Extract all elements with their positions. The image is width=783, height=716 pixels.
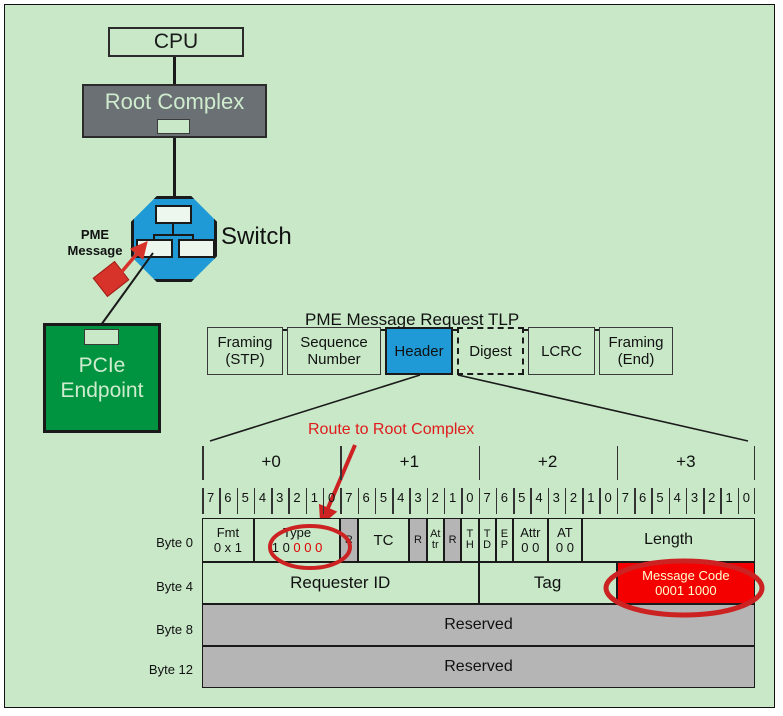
bit-tick <box>306 488 308 514</box>
byte-label-8: Byte 8 <box>109 622 193 637</box>
bit-number: 0 <box>740 490 752 505</box>
header-field-fmt: Fmt0 x 1 <box>202 518 254 562</box>
bit-number: 6 <box>360 490 372 505</box>
header-field-name: Attr <box>520 525 540 540</box>
type-field-highlight-ellipse <box>267 523 353 571</box>
header-field-value: H <box>466 540 474 551</box>
bit-number: 3 <box>412 490 424 505</box>
bit-tick <box>271 488 273 514</box>
bit-number: 3 <box>550 490 562 505</box>
tlp-field-line2: (End) <box>618 351 655 368</box>
bit-tick <box>237 488 239 514</box>
bit-number: 2 <box>568 490 580 505</box>
bit-number: 4 <box>671 490 683 505</box>
byte-edge-tick <box>202 446 204 480</box>
bit-number: 6 <box>222 490 234 505</box>
bit-tick <box>720 488 722 514</box>
header-field-name: R <box>414 535 422 546</box>
header-expand-lines <box>202 375 755 447</box>
header-field-value: 0 0 <box>521 540 539 555</box>
bit-tick <box>392 488 394 514</box>
header-field-name: TC <box>373 533 393 548</box>
bit-tick <box>479 488 481 514</box>
header-field-t: TH <box>461 518 478 562</box>
bit-number: 2 <box>429 490 441 505</box>
bit-tick <box>599 488 601 514</box>
message-code-highlight-ellipse <box>603 558 765 618</box>
tlp-field-line1: Sequence <box>300 334 368 351</box>
tlp-field-line1: LCRC <box>541 343 582 360</box>
tlp-field-lcrc: LCRC <box>528 327 595 375</box>
bit-tick <box>375 488 377 514</box>
bit-tick <box>703 488 705 514</box>
bit-tick <box>461 488 463 514</box>
bit-number: 5 <box>516 490 528 505</box>
byte-label-12: Byte 12 <box>109 662 193 677</box>
diagram-canvas: CPU Root Complex Switch PME Message PCIe… <box>4 4 775 708</box>
bit-tick <box>202 488 204 514</box>
bit-number: 5 <box>377 490 389 505</box>
tlp-field-line2: Number <box>307 351 360 368</box>
bit-tick <box>409 488 411 514</box>
bit-tick <box>530 488 532 514</box>
tlp-field-line1: Framing <box>608 334 663 351</box>
byte-label-0: Byte 0 <box>109 535 193 550</box>
bit-tick <box>513 488 515 514</box>
byte-offset-plus0: +0 <box>202 452 340 472</box>
pme-arrow-icon <box>113 241 157 283</box>
cpu-rc-wire <box>173 56 176 85</box>
endpoint-line1: PCIe <box>79 353 126 378</box>
header-field-r: R <box>444 518 461 562</box>
byte-divider-tick <box>479 446 481 480</box>
bit-number: 2 <box>706 490 718 505</box>
byte-offset-plus2: +2 <box>479 452 617 472</box>
bit-number: 3 <box>274 490 286 505</box>
bit-tick <box>427 488 429 514</box>
bit-tick <box>323 488 325 514</box>
bit-tick <box>651 488 653 514</box>
bit-number: 5 <box>239 490 251 505</box>
bit-number: 7 <box>619 490 631 505</box>
header-field-attr: Attr0 0 <box>513 518 548 562</box>
bit-number: 1 <box>585 490 597 505</box>
tlp-field-line1: Digest <box>469 343 512 360</box>
endpoint-line2: Endpoint <box>61 378 144 403</box>
bit-number: 7 <box>481 490 493 505</box>
header-field-value: 0 0 <box>556 540 574 555</box>
header-field-length: Length <box>582 518 755 562</box>
tlp-field-header: Header <box>385 327 453 375</box>
bit-tick <box>617 488 619 514</box>
header-field-name: R <box>449 535 457 546</box>
bit-tick <box>582 488 584 514</box>
byte-offset-plus1: +1 <box>340 452 478 472</box>
bit-tick <box>219 488 221 514</box>
bit-tick <box>754 488 756 514</box>
bit-number: 7 <box>205 490 217 505</box>
bit-number: 1 <box>308 490 320 505</box>
bit-tick <box>444 488 446 514</box>
bit-number: 6 <box>637 490 649 505</box>
bit-tick <box>634 488 636 514</box>
byte-divider-tick <box>340 446 342 480</box>
bit-tick <box>565 488 567 514</box>
bit-tick <box>254 488 256 514</box>
header-field-value: D <box>483 540 491 551</box>
reserved-cell-byte12: Reserved <box>202 646 755 688</box>
bit-number: 2 <box>291 490 303 505</box>
header-field-tc: TC <box>358 518 410 562</box>
tlp-field-line1: Framing <box>217 334 272 351</box>
bit-number: 3 <box>689 490 701 505</box>
cpu-box: CPU <box>108 27 244 57</box>
bit-tick <box>340 488 342 514</box>
byte-offset-plus3: +3 <box>617 452 755 472</box>
header-field-name: Fmt <box>217 525 239 540</box>
tlp-field-sequence: SequenceNumber <box>287 327 381 375</box>
header-field-t: TD <box>479 518 496 562</box>
header-field-value: 0 x 1 <box>214 540 242 555</box>
table-row-byte12: Reserved <box>202 646 755 688</box>
tlp-field-framing: Framing(STP) <box>207 327 283 375</box>
header-field-name: AT <box>557 525 573 540</box>
bit-number: 4 <box>533 490 545 505</box>
header-field-e: EP <box>496 518 513 562</box>
bit-tick <box>686 488 688 514</box>
header-field-tag: Tag <box>479 562 617 604</box>
header-field-at: Attr <box>427 518 444 562</box>
byte-edge-tick <box>754 446 756 480</box>
bit-tick <box>548 488 550 514</box>
rc-switch-wire <box>173 138 176 198</box>
header-field-name: Length <box>644 531 693 549</box>
root-complex-port <box>157 119 190 134</box>
tlp-field-digest: Digest <box>457 327 524 375</box>
endpoint-port <box>84 329 119 345</box>
bit-number: 0 <box>326 490 338 505</box>
header-field-r: R <box>409 518 426 562</box>
bit-tick <box>288 488 290 514</box>
bit-tick <box>358 488 360 514</box>
bit-ruler: +0+1+2+376543210765432107654321076543210 <box>202 446 755 518</box>
header-field-value: tr <box>432 540 439 551</box>
bit-number: 7 <box>343 490 355 505</box>
byte-label-4: Byte 4 <box>109 579 193 594</box>
bit-tick <box>669 488 671 514</box>
tlp-field-line1: Header <box>394 343 443 360</box>
bit-number: 0 <box>602 490 614 505</box>
bit-number: 1 <box>447 490 459 505</box>
bit-tick <box>738 488 740 514</box>
bit-number: 1 <box>723 490 735 505</box>
switch-label: Switch <box>221 223 292 251</box>
bit-number: 0 <box>464 490 476 505</box>
bit-number: 4 <box>256 490 268 505</box>
bit-number: 6 <box>498 490 510 505</box>
header-field-at: AT0 0 <box>548 518 583 562</box>
bit-number: 4 <box>395 490 407 505</box>
bit-number: 5 <box>654 490 666 505</box>
byte-divider-tick <box>617 446 619 480</box>
bit-tick <box>496 488 498 514</box>
header-field-value: P <box>501 540 508 551</box>
tlp-field-line2: (STP) <box>225 351 264 368</box>
tlp-field-framing: Framing(End) <box>599 327 673 375</box>
